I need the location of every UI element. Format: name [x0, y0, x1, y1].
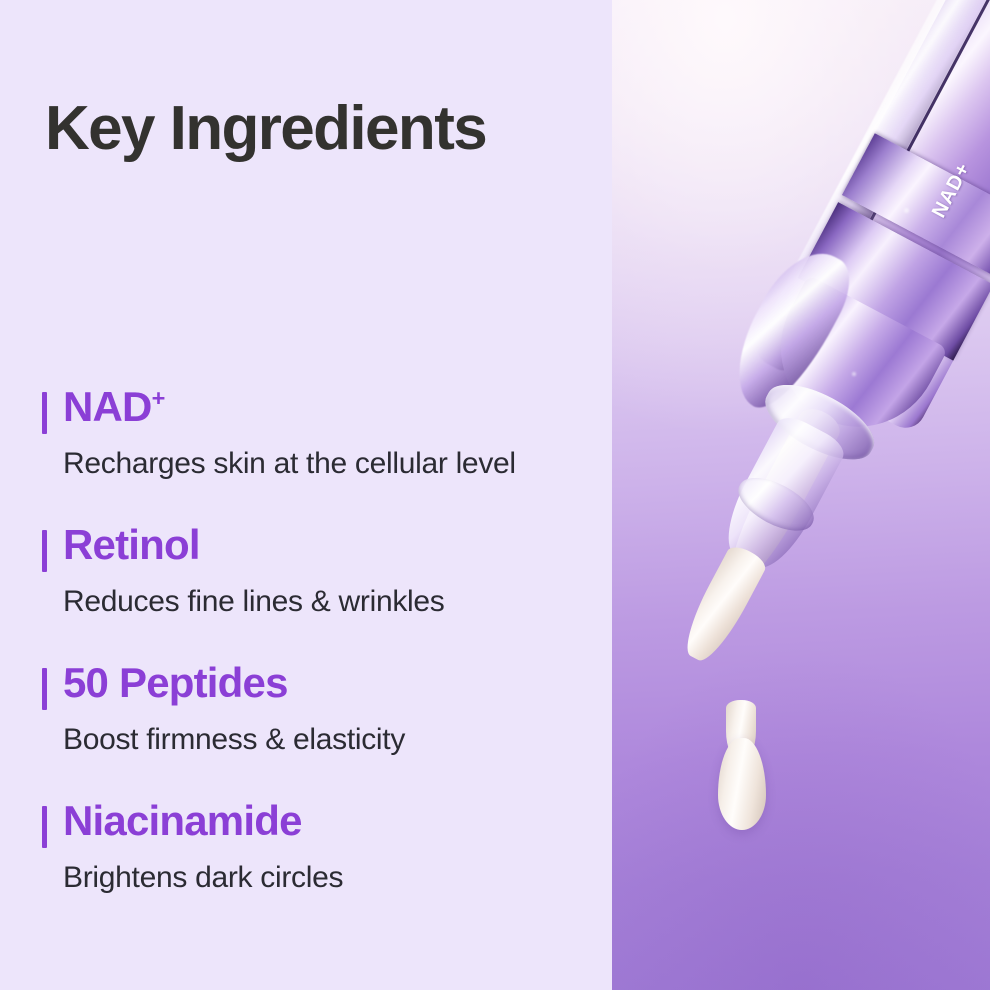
ingredient-list: NAD+ Recharges skin at the cellular leve… — [0, 380, 612, 932]
product-image-panel — [612, 0, 990, 990]
ingredient-name-superscript: + — [152, 385, 165, 411]
ingredient-name-text: NAD — [63, 383, 152, 430]
page-title: Key Ingredients — [45, 98, 486, 160]
ingredient-description: Recharges skin at the cellular level — [63, 444, 516, 483]
ingredient-name: Niacinamide — [63, 794, 302, 848]
text-panel: Key Ingredients NAD+ Recharges skin at t… — [0, 0, 612, 990]
cream-stream — [676, 542, 769, 668]
ingredient-description: Reduces fine lines & wrinkles — [63, 582, 444, 621]
accent-bar-icon — [42, 668, 47, 710]
ingredient-item-retinol: Retinol Reduces fine lines & wrinkles — [0, 518, 612, 656]
accent-bar-icon — [42, 392, 47, 434]
product-tube — [612, 0, 990, 681]
ingredient-name: 50 Peptides — [63, 656, 288, 710]
ingredient-name: NAD+ — [63, 380, 165, 434]
ingredient-name-text: Retinol — [63, 521, 200, 568]
ingredient-name-text: 50 Peptides — [63, 659, 288, 706]
ingredient-item-50-peptides: 50 Peptides Boost firmness & elasticity — [0, 656, 612, 794]
specular-sparkle — [852, 372, 856, 376]
accent-bar-icon — [42, 806, 47, 848]
accent-bar-icon — [42, 530, 47, 572]
ingredient-name-text: Niacinamide — [63, 797, 302, 844]
ingredient-description: Brightens dark circles — [63, 858, 343, 897]
key-ingredients-graphic: Key Ingredients NAD+ Recharges skin at t… — [0, 0, 990, 990]
ingredient-description: Boost firmness & elasticity — [63, 720, 405, 759]
specular-sparkle — [904, 208, 909, 213]
ingredient-item-niacinamide: Niacinamide Brightens dark circles — [0, 794, 612, 932]
ingredient-name: Retinol — [63, 518, 200, 572]
ingredient-item-nad: NAD+ Recharges skin at the cellular leve… — [0, 380, 612, 518]
